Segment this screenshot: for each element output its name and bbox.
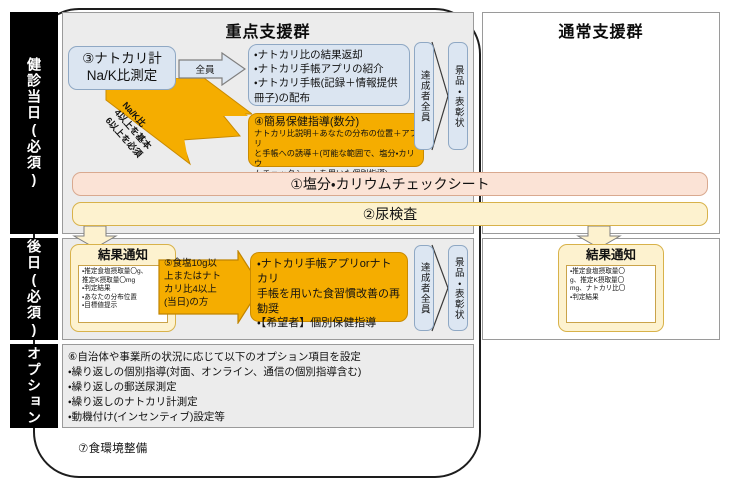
- food-environment-label: ⑦食環境整備: [78, 440, 148, 456]
- arrow-salt-criteria-line1: ⑤食塩10g以: [164, 257, 238, 270]
- box-followup-guidance-line1: ・ナトカリ手帳アプリorナトカリ: [257, 257, 401, 287]
- box-followup-guidance-line2: 手帳を用いた食習慣改善の再: [257, 287, 401, 302]
- options-item-0: ・繰り返しの個別指導(対面、オンライン、通信の個別指導含む): [68, 365, 468, 380]
- box-natokari-meter-line1: ③ナトカリ計: [82, 51, 162, 68]
- box-result-return-info-line3: ・ナトカリ手帳(記録＋情報提供: [254, 76, 404, 90]
- diagram-canvas: ⑦食環境整備 健診当日(必須) 後日(必須) オプション 重点支援群 通常支援群…: [0, 0, 730, 488]
- phase-label-option-text: オプション: [27, 346, 41, 426]
- phase-label-exam-day: 健診当日(必須): [10, 12, 58, 234]
- box-simple-health-guidance: ④簡易保健指導(数分) ナトカリ比説明＋あなたの分布の位置＋アプリ と手帳への誘…: [248, 113, 424, 167]
- box-followup-guidance: ・ナトカリ手帳アプリorナトカリ 手帳を用いた食習慣改善の再 勧奨 ・【希望者】…: [250, 252, 408, 322]
- panel-right-exam-day: [482, 12, 720, 234]
- box-achiever-all-bottom-label: 達成者全員: [419, 262, 429, 315]
- box-achiever-all-top-label: 達成者全員: [419, 70, 429, 123]
- box-result-notification-right-items: ・推定食塩摂取量〇 g、推定K摂取量〇 mg、ナトカリ比〇 ・判定結果: [566, 265, 656, 323]
- box-result-notification-left-items: ・推定食塩摂取量〇g、 推定K摂取量〇mg ・判定結果 ・あなたの分布位置 ・目…: [78, 265, 168, 323]
- box-simple-health-guidance-line2: と手帳への誘導＋(可能な範囲で、塩分・カリウ: [254, 149, 418, 169]
- box-simple-health-guidance-line1: ナトカリ比説明＋あなたの分布の位置＋アプリ: [254, 129, 418, 149]
- arrow-salt-criteria: ⑤食塩10g以 上またはナト カリ比4以上 (当日)の方: [158, 250, 262, 324]
- arrow-salt-criteria-line3: カリ比4以上: [164, 283, 238, 296]
- result-left-item-0: ・推定食塩摂取量〇g、: [82, 268, 164, 277]
- box-simple-health-guidance-heading: ④簡易保健指導(数分): [254, 116, 418, 129]
- sheet-salt-potassium-check: ①塩分・カリウムチェックシート: [72, 172, 708, 196]
- result-right-item-3: ・判定結果: [570, 294, 652, 303]
- box-followup-guidance-line4: ・【希望者】個別保健指導: [257, 316, 401, 331]
- arrow-salt-criteria-line4: (当日)の方: [164, 296, 238, 309]
- arrow-salt-criteria-label: ⑤食塩10g以 上またはナト カリ比4以上 (当日)の方: [164, 257, 238, 309]
- box-achiever-all-top: 達成者全員: [414, 42, 434, 150]
- box-prize-certificate-bottom-label: 景品・表彰状: [453, 257, 463, 320]
- phase-label-later-date-text: 後日(必須): [27, 239, 41, 339]
- box-followup-guidance-line3: 勧奨: [257, 302, 401, 317]
- result-left-item-3: ・あなたの分布位置: [82, 294, 164, 303]
- box-result-return-info-line4: 冊子)の配布: [254, 91, 404, 105]
- column-title-intensive: 重点支援群: [62, 18, 474, 42]
- box-result-notification-right: 結果通知 ・推定食塩摂取量〇 g、推定K摂取量〇 mg、ナトカリ比〇 ・判定結果: [558, 244, 664, 332]
- box-result-return-info: ・ナトカリ比の結果返却 ・ナトカリ手帳アプリの紹介 ・ナトカリ手帳(記録＋情報提…: [248, 44, 410, 106]
- phase-label-exam-day-text: 健診当日(必須): [27, 57, 41, 189]
- box-prize-certificate-top-label: 景品・表彰状: [453, 65, 463, 128]
- box-result-notification-right-title: 結果通知: [563, 247, 659, 263]
- column-title-standard: 通常支援群: [482, 18, 720, 42]
- phase-label-option: オプション: [10, 344, 58, 428]
- box-result-notification-left-title: 結果通知: [75, 247, 171, 263]
- arrow-all-participants: 全員: [178, 52, 246, 86]
- box-result-return-info-line2: ・ナトカリ手帳アプリの紹介: [254, 62, 404, 76]
- sheet-urine-test-label: ②尿検査: [73, 204, 707, 224]
- sheet-urine-test: ②尿検査: [72, 202, 708, 226]
- result-left-item-2: ・判定結果: [82, 285, 164, 294]
- result-right-item-0: ・推定食塩摂取量〇: [570, 268, 652, 277]
- box-achiever-all-bottom: 達成者全員: [414, 245, 434, 331]
- box-natokari-meter: ③ナトカリ計 Na/K比測定: [68, 46, 176, 90]
- options-heading: ⑥自治体や事業所の状況に応じて以下のオプション項目を設定: [68, 350, 468, 365]
- options-item-2: ・繰り返しのナトカリ計測定: [68, 395, 468, 410]
- result-left-item-1: 推定K摂取量〇mg: [82, 277, 164, 286]
- box-natokari-meter-line2: Na/K比測定: [87, 68, 158, 85]
- options-item-3: ・動機付け(インセンティブ)設定等: [68, 410, 468, 425]
- sheet-salt-potassium-check-label: ①塩分・カリウムチェックシート: [73, 174, 707, 194]
- arrow-salt-criteria-line2: 上またはナト: [164, 270, 238, 283]
- arrow-all-participants-label: 全員: [184, 62, 226, 76]
- result-right-item-2: mg、ナトカリ比〇: [570, 285, 652, 294]
- box-prize-certificate-top: 景品・表彰状: [448, 42, 468, 150]
- arrow-nak-criteria-shape: [62, 78, 252, 170]
- options-text-block: ⑥自治体や事業所の状況に応じて以下のオプション項目を設定 ・繰り返しの個別指導(…: [68, 350, 468, 425]
- arrow-nak-criteria: Na/K比 4以上を基本 6以上を必須: [62, 78, 252, 170]
- phase-label-later-date: 後日(必須): [10, 238, 58, 340]
- box-prize-certificate-bottom: 景品・表彰状: [448, 245, 468, 331]
- result-right-item-1: g、推定K摂取量〇: [570, 277, 652, 286]
- options-item-1: ・繰り返しの郵送尿測定: [68, 380, 468, 395]
- result-left-item-4: ・目標値提示: [82, 302, 164, 311]
- box-result-return-info-line1: ・ナトカリ比の結果返却: [254, 48, 404, 62]
